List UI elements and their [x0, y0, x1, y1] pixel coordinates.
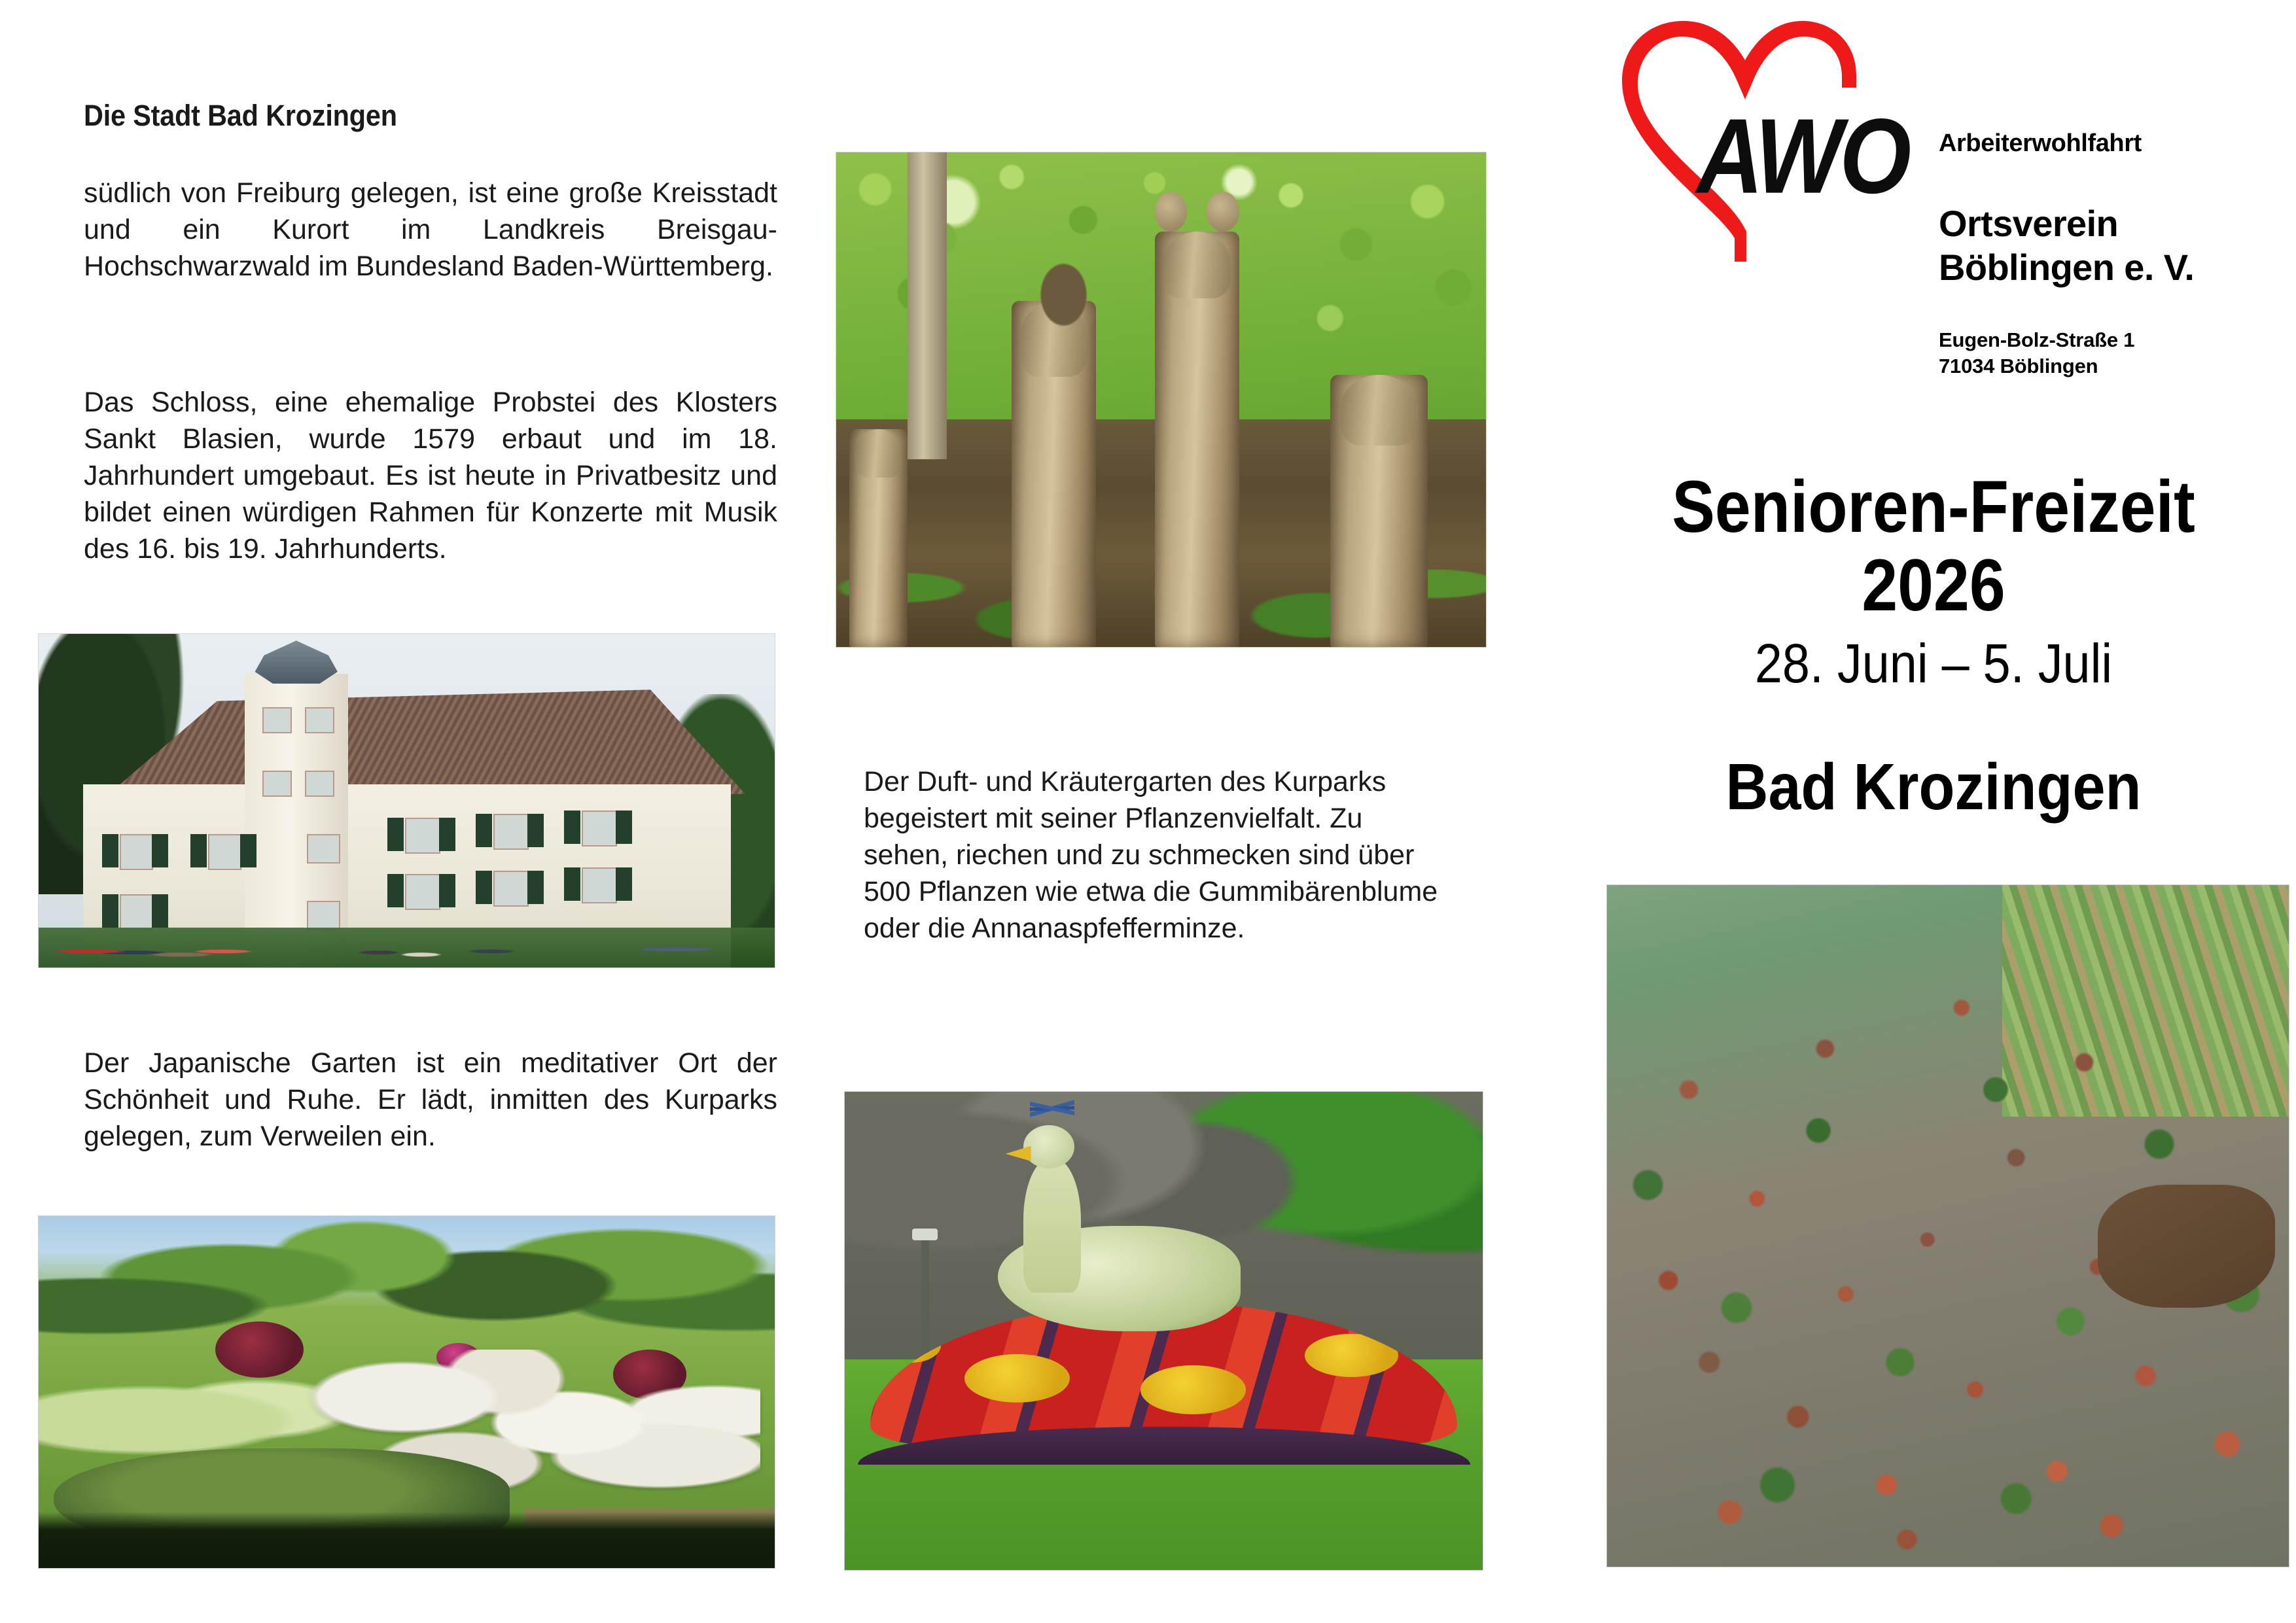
event-title: Senioren-Freizeit — [1625, 470, 2242, 544]
chapter-line-2: Böblingen e. V. — [1939, 245, 2296, 289]
wood-figures-photo — [836, 152, 1487, 648]
event-dates: 28. Juni – 5. Juli — [1619, 632, 2249, 695]
awo-wordmark: AWO — [1697, 96, 1909, 218]
organisation-name: Arbeiterwohlfahrt — [1939, 130, 2292, 158]
schloss-photo — [38, 633, 775, 968]
aerial-town-photo — [1606, 884, 2289, 1567]
organisation-address: Eugen-Bolz-Straße 1 71034 Böblingen — [1939, 327, 2292, 379]
address-street: Eugen-Bolz-Straße 1 — [1939, 327, 2292, 353]
organisation-chapter: Ortsverein Böblingen e. V. — [1939, 201, 2296, 289]
paragraph-herb-garden: Der Duft- und Kräutergarten des Kurparks… — [864, 764, 1453, 947]
japanese-garden-photo — [38, 1215, 775, 1569]
awo-logo: AWO — [1600, 5, 1907, 267]
peacock-flowerbed-photo — [844, 1091, 1483, 1571]
left-column: Die Stadt Bad Krozingen südlich von Frei… — [0, 0, 821, 1623]
paragraph-japanese-garden: Der Japanische Garten ist ein meditative… — [84, 1045, 777, 1155]
address-city: 71034 Böblingen — [1939, 353, 2292, 379]
event-year: 2026 — [1625, 548, 2242, 623]
page-heading: Die Stadt Bad Krozingen — [84, 97, 722, 135]
chapter-line-1: Ortsverein — [1939, 201, 2296, 245]
event-place: Bad Krozingen — [1619, 750, 2249, 825]
paragraph-schloss: Das Schloss, eine ehemalige Probstei des… — [84, 385, 777, 567]
paragraph-location: südlich von Freiburg gelegen, ist eine g… — [84, 175, 777, 285]
